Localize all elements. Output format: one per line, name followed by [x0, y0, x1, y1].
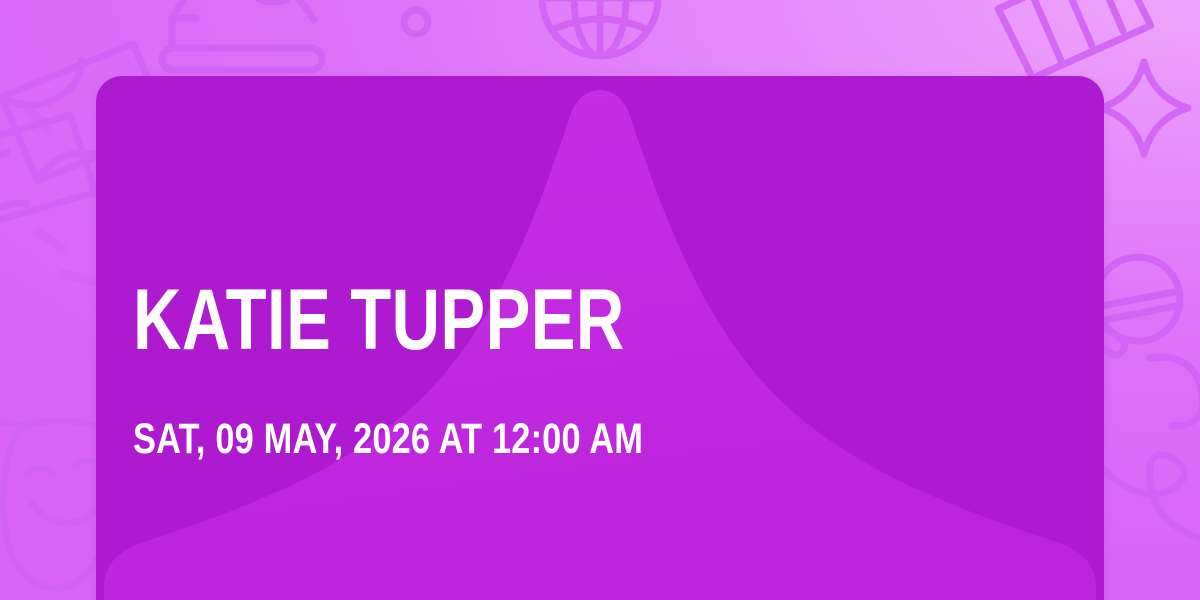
event-card[interactable]: KATIE TUPPER SAT, 09 MAY, 2026 AT 12:00 … — [96, 76, 1104, 600]
sparkle-icon — [1100, 62, 1188, 154]
event-card-text: KATIE TUPPER SAT, 09 MAY, 2026 AT 12:00 … — [133, 76, 1063, 600]
event-datetime: SAT, 09 MAY, 2026 AT 12:00 AM — [133, 415, 643, 463]
event-banner-stage: KATIE TUPPER SAT, 09 MAY, 2026 AT 12:00 … — [0, 0, 1200, 600]
cake-slice-icon — [162, 0, 322, 70]
ticket-stub-icon — [993, 0, 1156, 82]
event-title: KATIE TUPPER — [133, 274, 625, 366]
circle-dot-icon — [404, 10, 428, 34]
globe-icon — [542, 0, 658, 56]
